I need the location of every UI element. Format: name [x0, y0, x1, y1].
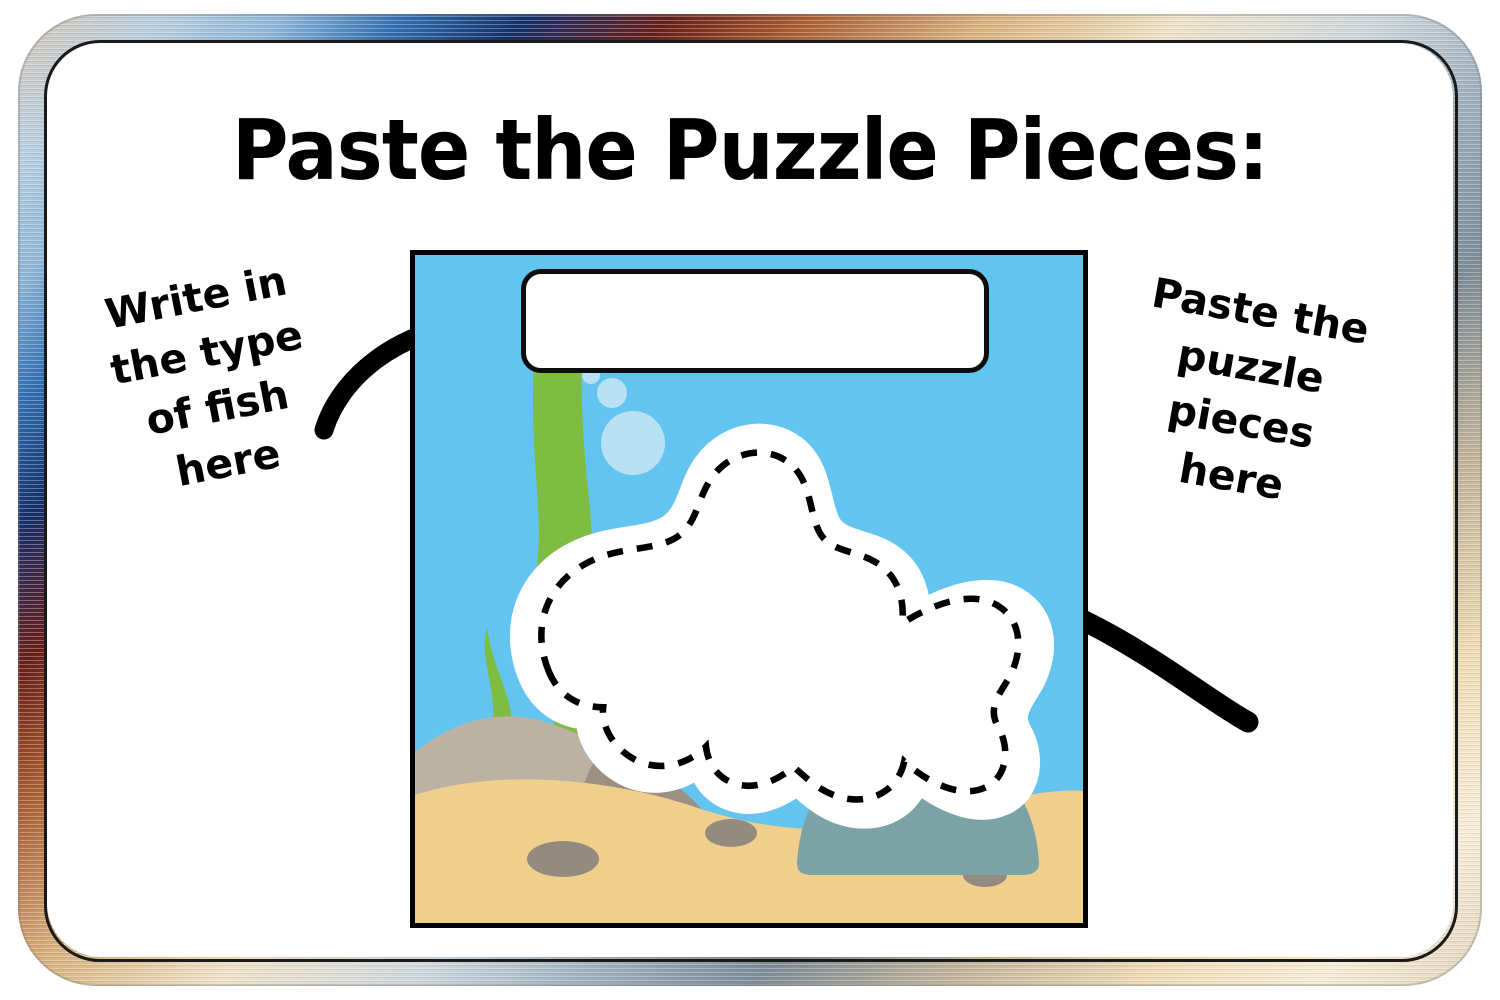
- aquarium-illustration: [410, 250, 1088, 928]
- pebble-icon: [527, 841, 599, 877]
- fish-name-input[interactable]: [521, 269, 989, 373]
- pebble-icon: [705, 819, 757, 847]
- page-title: Paste the Puzzle Pieces:: [60, 104, 1440, 196]
- bubble-icon: [601, 411, 665, 475]
- bubble-icon: [597, 378, 627, 408]
- worksheet-page: Paste the Puzzle Pieces: Write in the ty…: [0, 0, 1500, 1000]
- fish-name-value[interactable]: [526, 274, 984, 368]
